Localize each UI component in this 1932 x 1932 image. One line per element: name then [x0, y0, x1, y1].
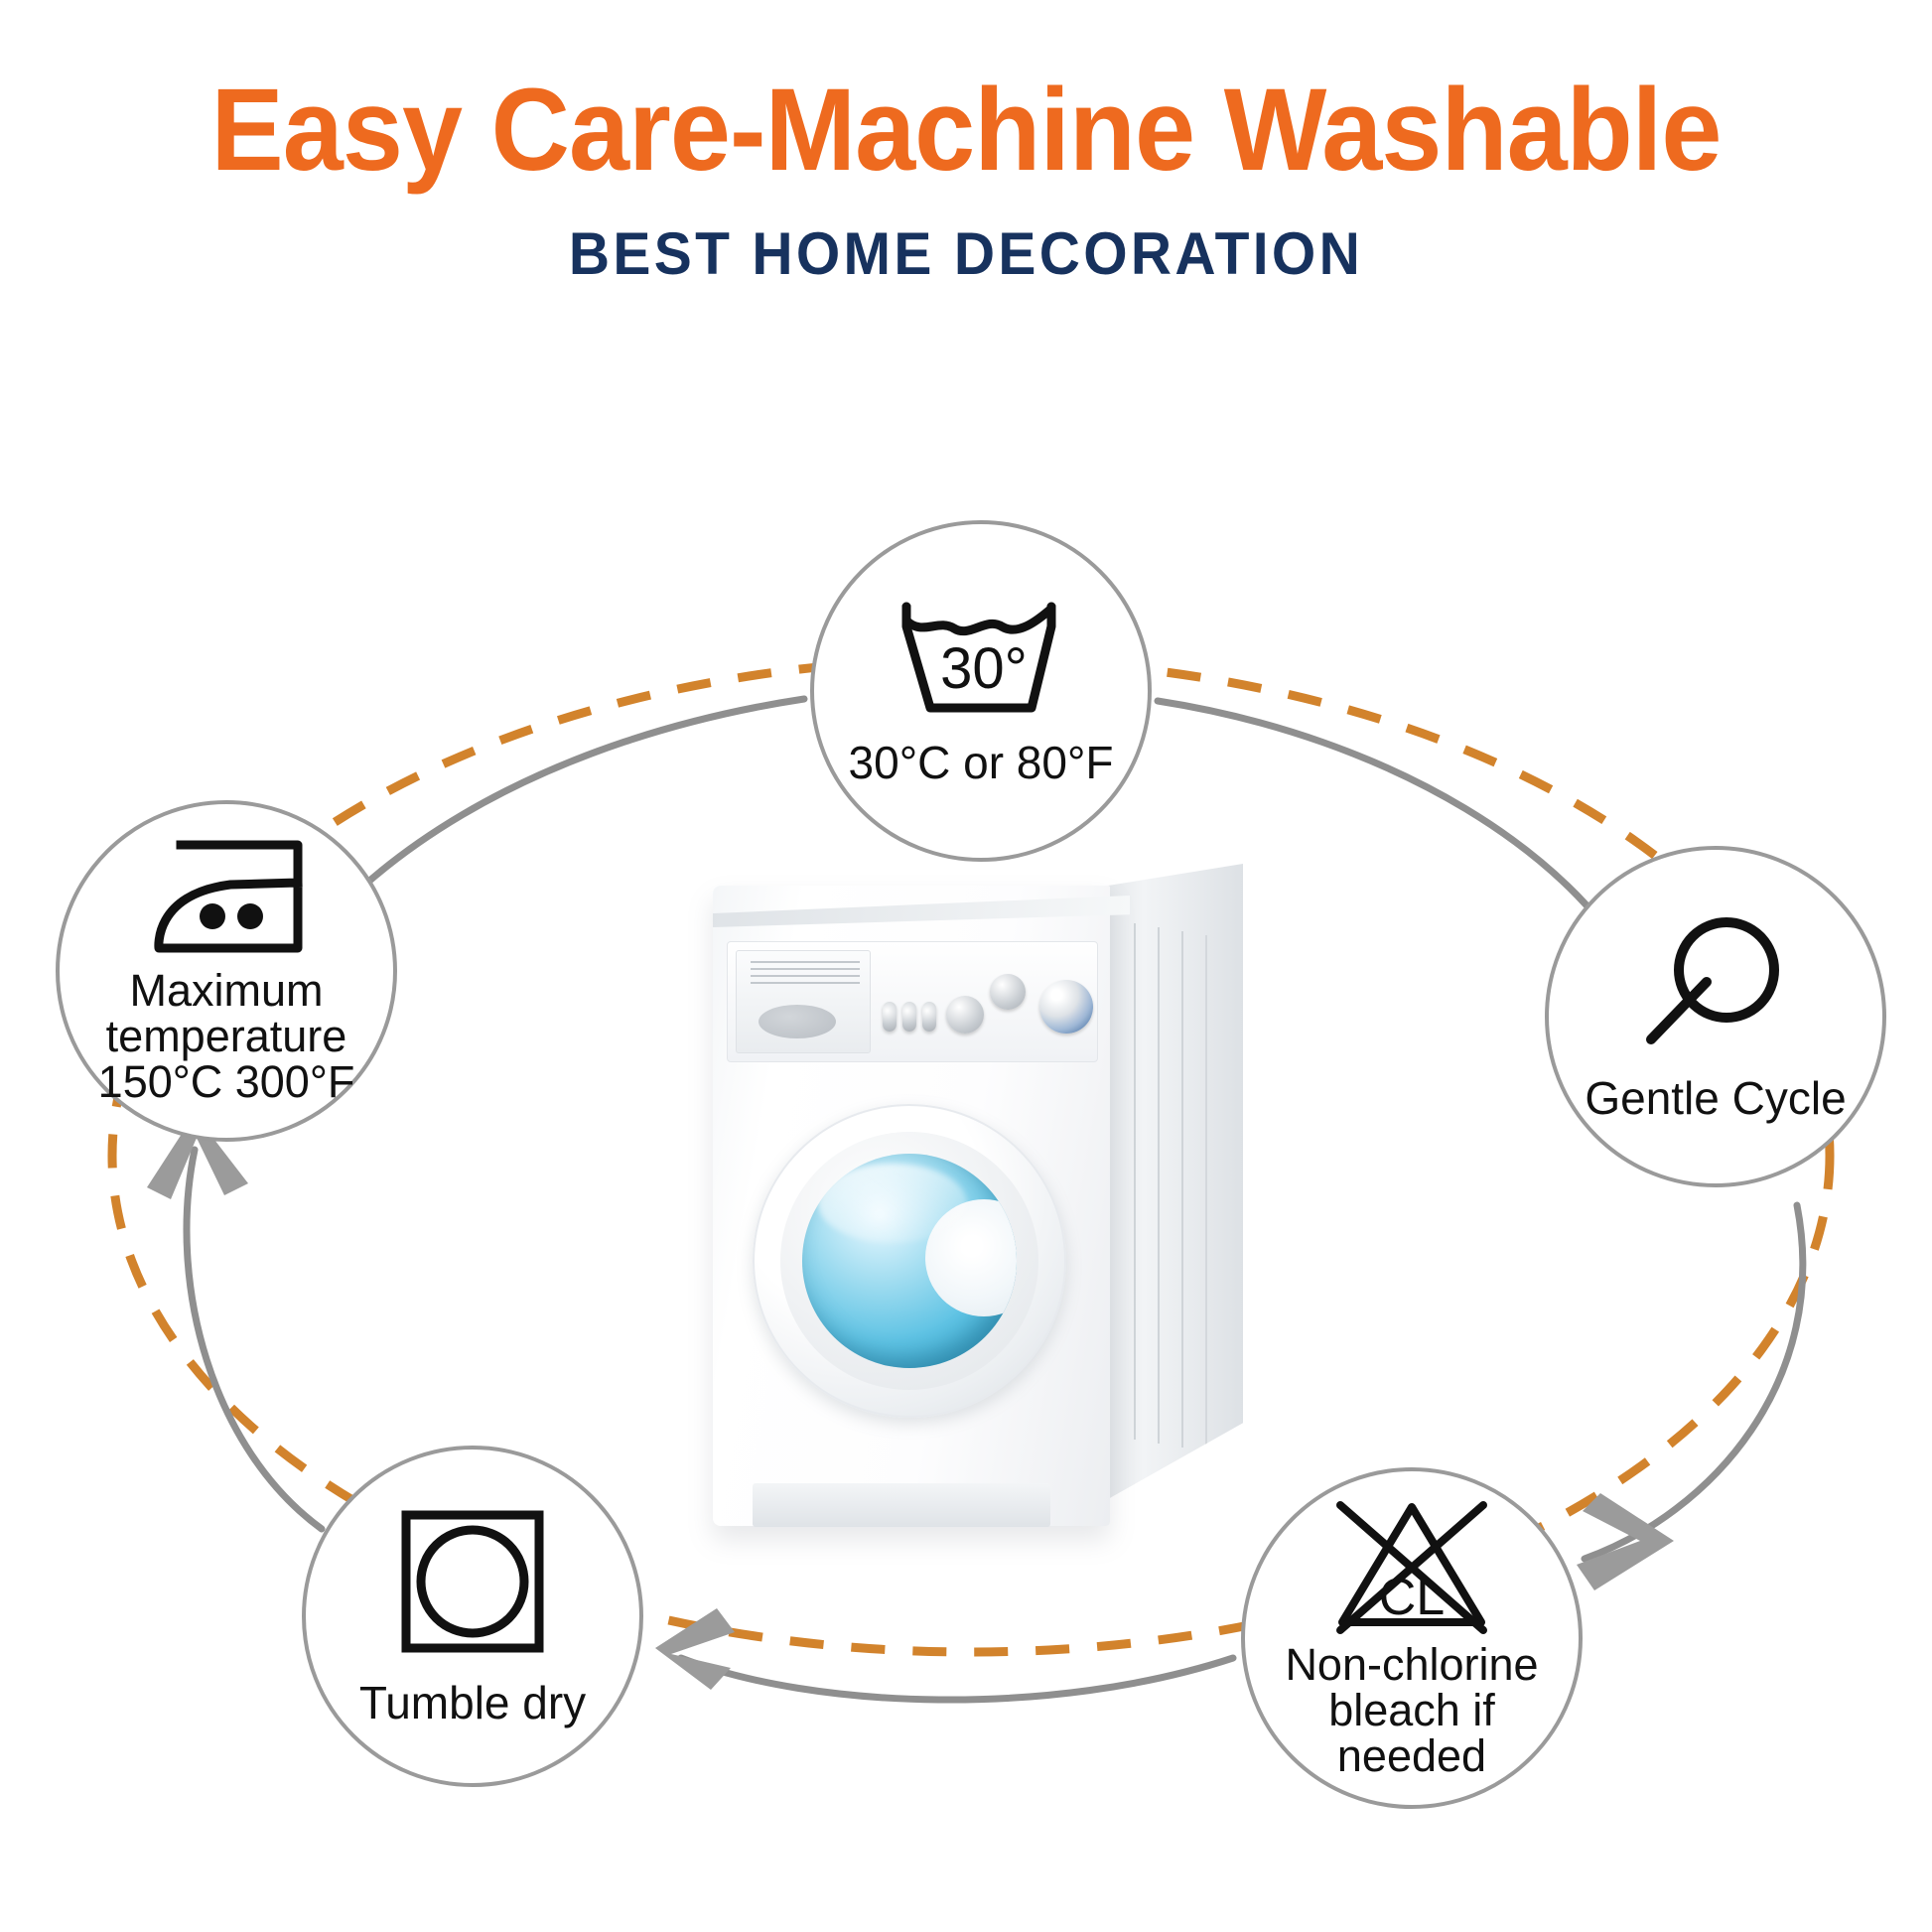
step-non-chlorine-bleach-caption: Non-chlorine bleach if needed	[1285, 1642, 1538, 1779]
step-wash-temperature[interactable]: 30° 30°C or 80°F	[810, 520, 1152, 862]
iron-two-dots-icon	[139, 837, 314, 960]
step-tumble-dry-caption: Tumble dry	[359, 1680, 586, 1726]
washer-top-surface	[713, 896, 1130, 927]
washer-drawer-handle	[759, 1005, 836, 1038]
washer-door-glass	[802, 1154, 1017, 1368]
washer-knob-medium	[990, 974, 1026, 1010]
washer-program-dial	[1039, 980, 1093, 1034]
step-non-chlorine-bleach[interactable]: CL Non-chlorine bleach if needed	[1241, 1467, 1583, 1809]
care-instructions-infographic: Easy Care-Machine Washable BEST HOME DEC…	[0, 0, 1932, 1932]
washer-knob-group	[883, 962, 1093, 1045]
step-gentle-cycle[interactable]: Gentle Cycle	[1545, 846, 1886, 1187]
no-chlorine-bleach-icon: CL	[1330, 1497, 1493, 1636]
washer-button-3	[922, 1002, 936, 1032]
arc-tumble-to-iron	[187, 1150, 322, 1529]
washer-button-1	[883, 1002, 897, 1032]
washer-detergent-drawer	[736, 950, 871, 1053]
washer-door	[753, 1104, 1066, 1418]
step-max-iron-temperature[interactable]: Maximum temperature 150°C 300°F	[56, 800, 397, 1142]
tumble-dry-icon	[398, 1507, 547, 1656]
washer-door-ring	[780, 1132, 1038, 1390]
washer-control-panel	[727, 941, 1098, 1062]
step-tumble-dry[interactable]: Tumble dry	[302, 1446, 643, 1787]
wash-tub-icon: 30°	[893, 597, 1069, 724]
washer-side-panel	[1108, 864, 1243, 1499]
step-wash-temperature-caption: 30°C or 80°F	[849, 740, 1114, 786]
washer-base-plinth	[753, 1483, 1050, 1527]
washer-knob-small	[946, 996, 984, 1034]
gentle-cycle-icon	[1635, 912, 1796, 1061]
step-gentle-cycle-caption: Gentle Cycle	[1585, 1075, 1846, 1122]
step-max-iron-temperature-caption: Maximum temperature 150°C 300°F	[98, 968, 355, 1105]
wash-tub-temperature-value: 30°	[940, 636, 1028, 701]
washer-front-body	[713, 886, 1110, 1526]
washer-drawer-label	[751, 961, 860, 995]
washing-machine-image	[713, 856, 1249, 1541]
arc-bleach-to-tumble	[681, 1658, 1233, 1700]
flow-diagram: 30° 30°C or 80°F Gentle Cycle CL	[0, 0, 1932, 1932]
arrowhead-to-tumble	[655, 1608, 735, 1690]
bleach-cl-label: CL	[1379, 1569, 1445, 1626]
washer-button-2	[902, 1002, 916, 1032]
